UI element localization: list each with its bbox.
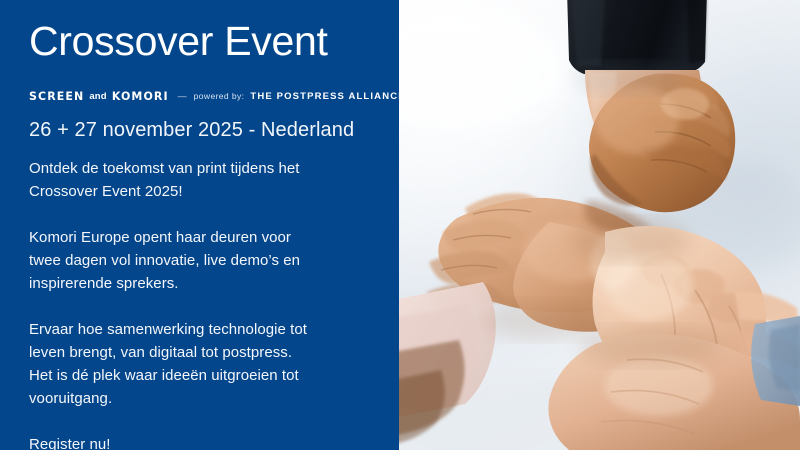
text-line: Register nu! (29, 433, 369, 450)
text-line: Ontdek de toekomst van print tijdens het (29, 157, 369, 180)
text-line: twee dagen vol innovatie, live demo’s en (29, 249, 369, 272)
text-line: leven brengt, van digitaal tot postpress… (29, 341, 369, 364)
paragraph-intro: Ontdek de toekomst van print tijdens het… (29, 157, 369, 203)
text-line: inspirerende sprekers. (29, 272, 369, 295)
brand-conjunction: and (89, 91, 107, 102)
paragraph-experience: Ervaar hoe samenwerking technologie tot … (29, 318, 369, 410)
komori-logo: KOMORI (112, 89, 169, 103)
screen-logo: SCREEN (29, 89, 84, 103)
paragraph-komori-europe: Komori Europe opent haar deuren voor twe… (29, 226, 369, 295)
text-line: Ervaar hoe samenwerking technologie tot (29, 318, 369, 341)
brand-separator-dash: — (178, 91, 187, 101)
page-title: Crossover Event (29, 19, 328, 65)
text-line: Crossover Event 2025! (29, 180, 369, 203)
powered-by-label: powered by: (194, 91, 245, 101)
blue-info-panel: Crossover Event SCREEN and KOMORI — powe… (0, 0, 399, 450)
register-call-to-action[interactable]: Register nu! (29, 433, 369, 450)
teamwork-hands-illustration (399, 0, 800, 450)
postpress-alliance-logo: THE POSTPRESS ALLIANCE (250, 91, 405, 102)
text-line: Komori Europe opent haar deuren voor (29, 226, 369, 249)
body-copy: Ontdek de toekomst van print tijdens het… (29, 157, 369, 450)
crossover-event-banner: Crossover Event SCREEN and KOMORI — powe… (0, 0, 800, 450)
text-line: vooruitgang. (29, 387, 369, 410)
brand-lockup: SCREEN and KOMORI — powered by: THE POST… (29, 89, 406, 103)
text-line: Het is dé plek waar ideeën uitgroeien to… (29, 364, 369, 387)
teamwork-hands-photo (399, 0, 800, 450)
event-date-location: 26 + 27 november 2025 - Nederland (29, 119, 354, 142)
